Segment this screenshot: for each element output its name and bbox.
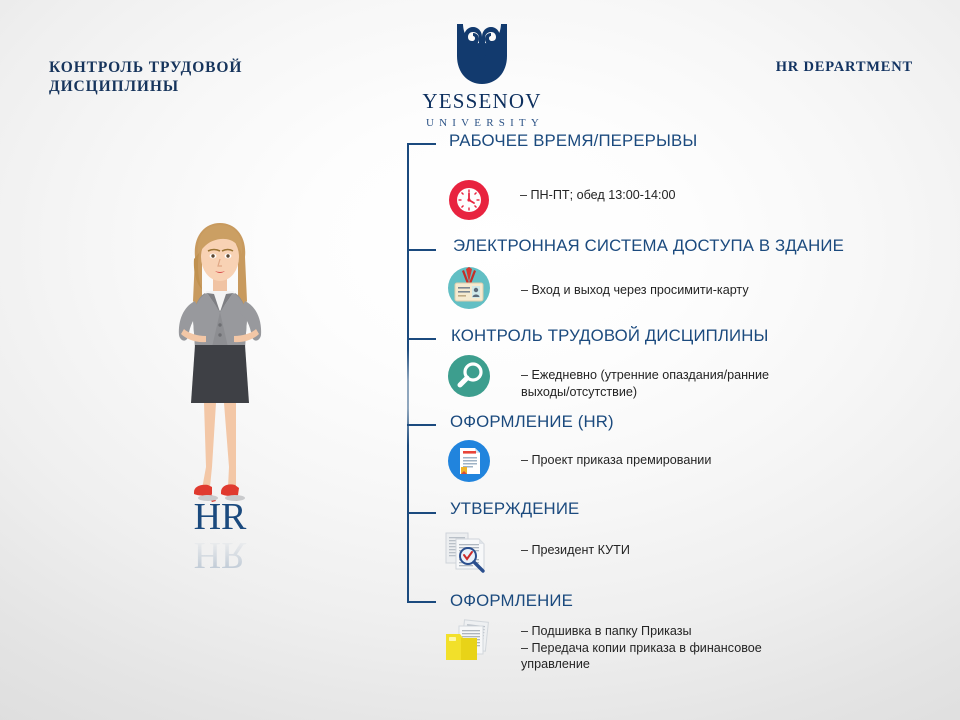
department-label: HR DEPARTMENT (776, 59, 913, 76)
body-line: – Ежедневно (утренние опаздания/ранние (521, 367, 769, 384)
folder-documents-icon (443, 618, 487, 662)
connector-branch-access-system (407, 249, 436, 251)
body-line: – Вход и выход через просимити-карту (521, 282, 749, 299)
connector-branch-hr-processing (407, 424, 436, 426)
section-title-hr-processing: ОФОРМЛЕНИЕ (HR) (450, 412, 614, 432)
body-line: – ПН-ПТ; обед 13:00-14:00 (520, 187, 675, 204)
section-title-discipline-control: КОНТРОЛЬ ТРУДОВОЙ ДИСЦИПЛИНЫ (451, 326, 769, 346)
page-title: КОНТРОЛЬ ТРУДОВОЙ ДИСЦИПЛИНЫ (49, 58, 369, 96)
clock-icon (447, 178, 491, 222)
connector-branch-filing (407, 601, 436, 603)
body-line: – Президент КУТИ (521, 542, 630, 559)
logo-subtitle: UNIVERSITY (426, 117, 542, 129)
section-title-filing: ОФОРМЛЕНИЕ (450, 591, 573, 611)
section-body-hr-processing: – Проект приказа премировании (521, 452, 711, 469)
section-title-approval: УТВЕРЖДЕНИЕ (450, 499, 579, 519)
body-line: выходы/отсутствие) (521, 384, 769, 401)
section-body-filing: – Подшивка в папку Приказы – Передача ко… (521, 623, 762, 673)
body-line: – Подшивка в папку Приказы (521, 623, 762, 640)
section-title-access-system: ЭЛЕКТРОННАЯ СИСТЕМА ДОСТУПА В ЗДАНИЕ (453, 236, 844, 256)
slide-canvas: КОНТРОЛЬ ТРУДОВОЙ ДИСЦИПЛИНЫ HR DEPARTME… (0, 0, 960, 720)
id-badge-icon (447, 266, 491, 310)
connector-branch-discipline-control (407, 338, 436, 340)
section-title-work-hours: РАБОЧЕЕ ВРЕМЯ/ПЕРЕРЫВЫ (449, 131, 697, 151)
section-body-discipline-control: – Ежедневно (утренние опаздания/ранние в… (521, 367, 769, 400)
body-line: – Передача копии приказа в финансовое (521, 640, 762, 657)
tulip-shield-icon (451, 20, 513, 88)
connector-branch-approval (407, 512, 436, 514)
university-logo: YESSENOV UNIVERSITY (422, 20, 542, 129)
hr-caption-reflection: HR (150, 536, 290, 574)
section-body-approval: – Президент КУТИ (521, 542, 630, 559)
connector-spine (407, 143, 409, 601)
connector-branch-work-hours (407, 143, 436, 145)
hr-caption: HR (150, 498, 290, 536)
body-line: управление (521, 656, 762, 673)
section-body-work-hours: – ПН-ПТ; обед 13:00-14:00 (520, 187, 675, 204)
logo-name: YESSENOV (422, 89, 542, 114)
document-review-icon (443, 530, 487, 574)
order-document-icon (447, 439, 491, 483)
businesswoman-illustration (150, 215, 290, 515)
body-line: – Проект приказа премировании (521, 452, 711, 469)
magnifier-icon (447, 354, 491, 398)
section-body-access-system: – Вход и выход через просимити-карту (521, 282, 749, 299)
